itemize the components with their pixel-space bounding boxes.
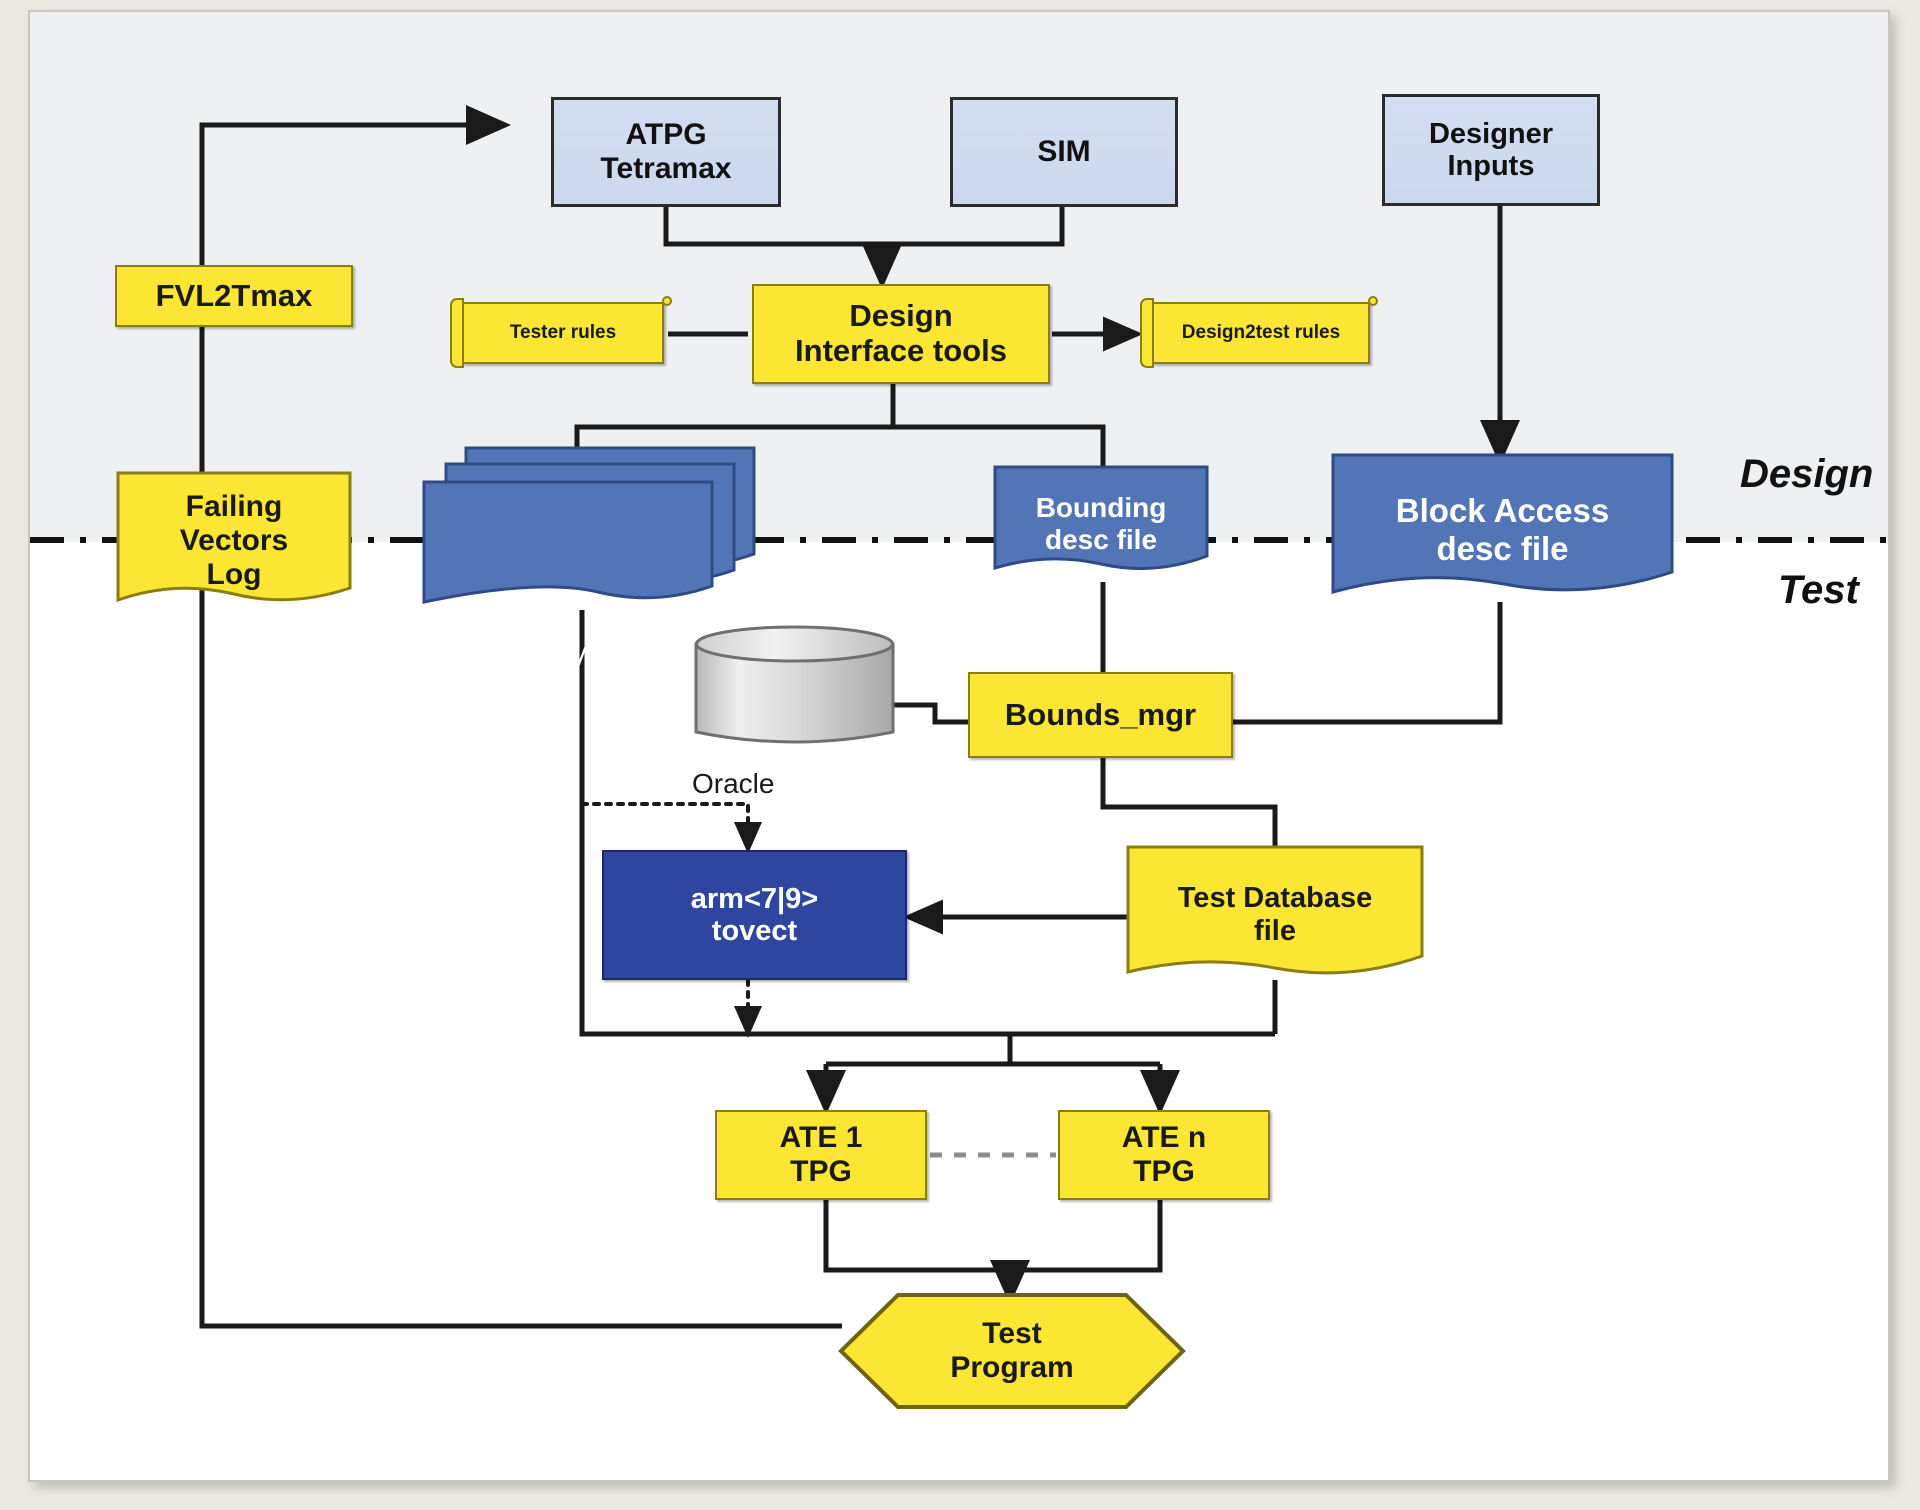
node-design-interface-tools-line1: Design <box>795 299 1007 334</box>
node-oracle-label: Oracle <box>692 768 774 799</box>
diagram-canvas: ATPG Tetramax SIM Designer Inputs FVL2Tm… <box>28 10 1890 1482</box>
node-atpg-line1: ATPG <box>600 118 731 152</box>
node-ate-n-line1: ATE n <box>1122 1121 1206 1155</box>
node-bounds-mgr[interactable]: Bounds_mgr <box>968 672 1233 758</box>
node-design2test-rules[interactable]: Design2test rules <box>1152 302 1370 364</box>
node-bounding-desc-file[interactable]: Bounding desc file <box>992 464 1210 584</box>
failing-vectors-log-shape <box>115 470 353 612</box>
test-database-file-shape <box>1125 844 1425 986</box>
node-fvl2tmax-label: FVL2Tmax <box>156 279 313 314</box>
vect-timset-files-line2: files <box>446 675 704 708</box>
region-label-design: Design <box>1740 452 1873 497</box>
node-fvl2tmax[interactable]: FVL2Tmax <box>115 265 353 327</box>
node-ate-n-tpg[interactable]: ATE n TPG <box>1058 1110 1270 1200</box>
node-tester-rules[interactable]: Tester rules <box>462 302 664 364</box>
node-vect-timset-files[interactable]: VECT+TIMSET files <box>418 444 758 612</box>
node-arm-tovect-line1: arm<7|9> <box>691 883 818 915</box>
node-failing-vectors-log[interactable]: Failing Vectors Log <box>115 470 353 612</box>
block-access-desc-file-shape <box>1330 452 1675 607</box>
vect-timset-files-shape <box>418 444 758 612</box>
node-test-program[interactable]: Test Program <box>838 1292 1186 1410</box>
region-label-test: Test <box>1778 568 1859 613</box>
node-designer-inputs[interactable]: Designer Inputs <box>1382 94 1600 206</box>
node-oracle-database[interactable]: Oracle <box>692 624 897 752</box>
node-tester-rules-label: Tester rules <box>510 322 616 343</box>
node-atpg-line2: Tetramax <box>600 152 731 186</box>
node-sim[interactable]: SIM <box>950 97 1178 207</box>
test-program-hexagon-shape <box>838 1292 1186 1410</box>
node-design2test-rules-label: Design2test rules <box>1182 322 1340 343</box>
database-cylinder-icon <box>692 624 897 752</box>
vect-timset-files-line1: VECT+TIMSET <box>446 642 704 675</box>
node-sim-label: SIM <box>1037 135 1090 169</box>
node-block-access-desc-file[interactable]: Block Access desc file <box>1330 452 1675 607</box>
node-design-interface-tools-line2: Interface tools <box>795 334 1007 369</box>
node-ate-1-tpg[interactable]: ATE 1 TPG <box>715 1110 927 1200</box>
node-ate-1-line1: ATE 1 <box>780 1121 863 1155</box>
node-atpg-tetramax[interactable]: ATPG Tetramax <box>551 97 781 207</box>
node-ate-1-line2: TPG <box>780 1155 863 1189</box>
node-designer-inputs-line1: Designer <box>1429 118 1553 150</box>
node-ate-n-line2: TPG <box>1122 1155 1206 1189</box>
connector-lines <box>30 12 1888 1480</box>
node-designer-inputs-line2: Inputs <box>1429 150 1553 182</box>
node-design-interface-tools[interactable]: Design Interface tools <box>752 284 1050 384</box>
node-bounds-mgr-label: Bounds_mgr <box>1005 698 1196 733</box>
node-test-database-file[interactable]: Test Database file <box>1125 844 1425 986</box>
node-arm-tovect[interactable]: arm<7|9> tovect <box>602 850 907 980</box>
node-arm-tovect-line2: tovect <box>691 915 818 947</box>
bounding-desc-file-shape <box>992 464 1210 584</box>
